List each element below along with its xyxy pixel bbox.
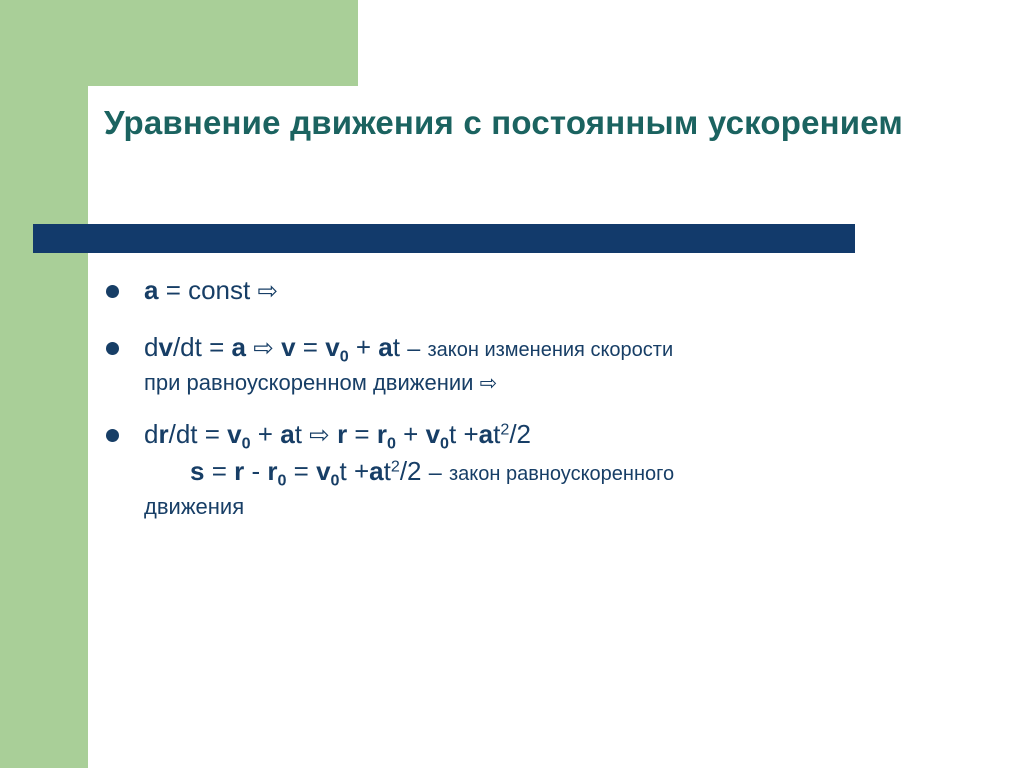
formula-line-2: dv/dt = a ⇨ v = v0 + at – закон изменени…	[144, 329, 980, 366]
annotation-velocity-law-cont: при равноускоренном движении	[144, 370, 473, 395]
page-title: Уравнение движения с постоянным ускорени…	[104, 104, 934, 143]
list-item: a = const ⇨	[100, 272, 980, 309]
annotation-velocity-law: закон изменения скорости	[427, 339, 673, 361]
symbol-a: a	[144, 275, 158, 305]
formula-line-3: dr/dt = v0 + at ⇨ r = r0 + v0t +at2/2	[144, 416, 980, 453]
arrow-right-icon: ⇨	[257, 278, 278, 305]
body-content: a = const ⇨ dv/dt = a ⇨ v = v0 + at – за…	[100, 272, 980, 526]
list-item: dv/dt = a ⇨ v = v0 + at – закон изменени…	[100, 329, 980, 396]
arrow-right-icon: ⇨	[480, 372, 498, 395]
arrow-right-icon: ⇨	[309, 422, 330, 449]
equation-text: = const	[158, 275, 257, 305]
formula-line-1: a = const ⇨	[144, 272, 980, 309]
formula-line-5: движения	[144, 494, 980, 520]
annotation-motion-law-cont: движения	[144, 494, 244, 519]
arrow-right-icon: ⇨	[253, 335, 274, 362]
bullet-dot-icon	[106, 342, 119, 355]
formula-line-4: s = r - r0 = v0t +at2/2 – закон равноуск…	[144, 453, 980, 490]
formula-line-2-continued: при равноускоренном движении ⇨	[144, 370, 980, 396]
green-side-band	[0, 0, 88, 768]
spacer	[100, 315, 980, 329]
spacer	[100, 402, 980, 416]
list-item: dr/dt = v0 + at ⇨ r = r0 + v0t +at2/2 s …	[100, 416, 980, 520]
bullet-dot-icon	[106, 285, 119, 298]
bullet-dot-icon	[106, 429, 119, 442]
green-top-block	[0, 0, 358, 86]
annotation-motion-law: закон равноускоренного	[449, 463, 674, 485]
title-divider-bar	[33, 224, 855, 253]
slide: Уравнение движения с постоянным ускорени…	[0, 0, 1024, 768]
